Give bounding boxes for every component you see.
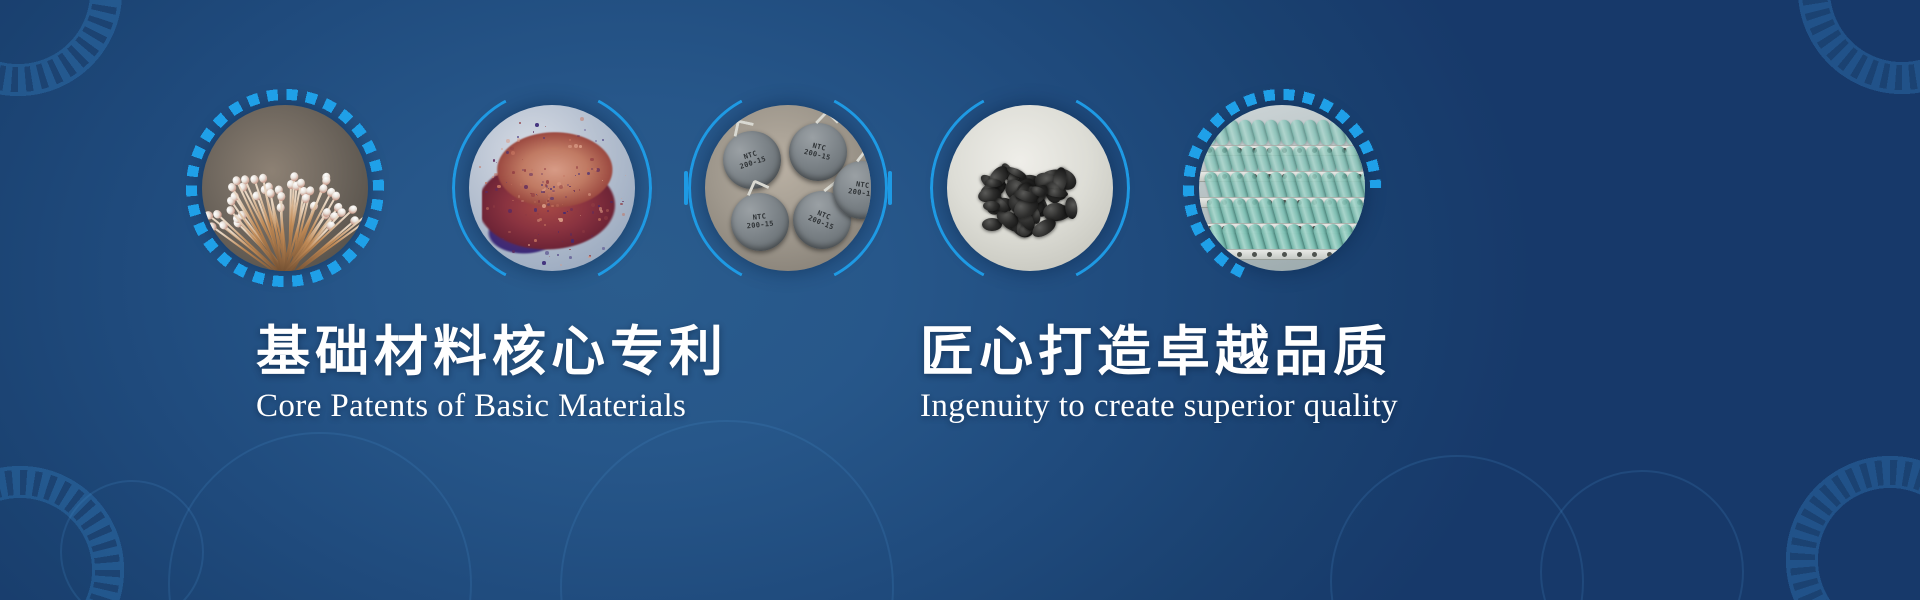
headline-cn: 匠心打造卓越品质 bbox=[920, 322, 1398, 380]
headline-group: 基础材料核心专利 Core Patents of Basic Materials… bbox=[0, 0, 1920, 600]
headline-cn: 基础材料核心专利 bbox=[256, 322, 728, 380]
headline-en: Core Patents of Basic Materials bbox=[256, 388, 728, 424]
headline-block-superior-quality: 匠心打造卓越品质 Ingenuity to create superior qu… bbox=[920, 322, 1398, 425]
headline-en: Ingenuity to create superior quality bbox=[920, 388, 1398, 424]
hero-banner: NTC200-15NTC200-15NTC200-15NTC200-15NTC2… bbox=[0, 0, 1920, 600]
headline-block-basic-materials: 基础材料核心专利 Core Patents of Basic Materials bbox=[256, 322, 728, 425]
